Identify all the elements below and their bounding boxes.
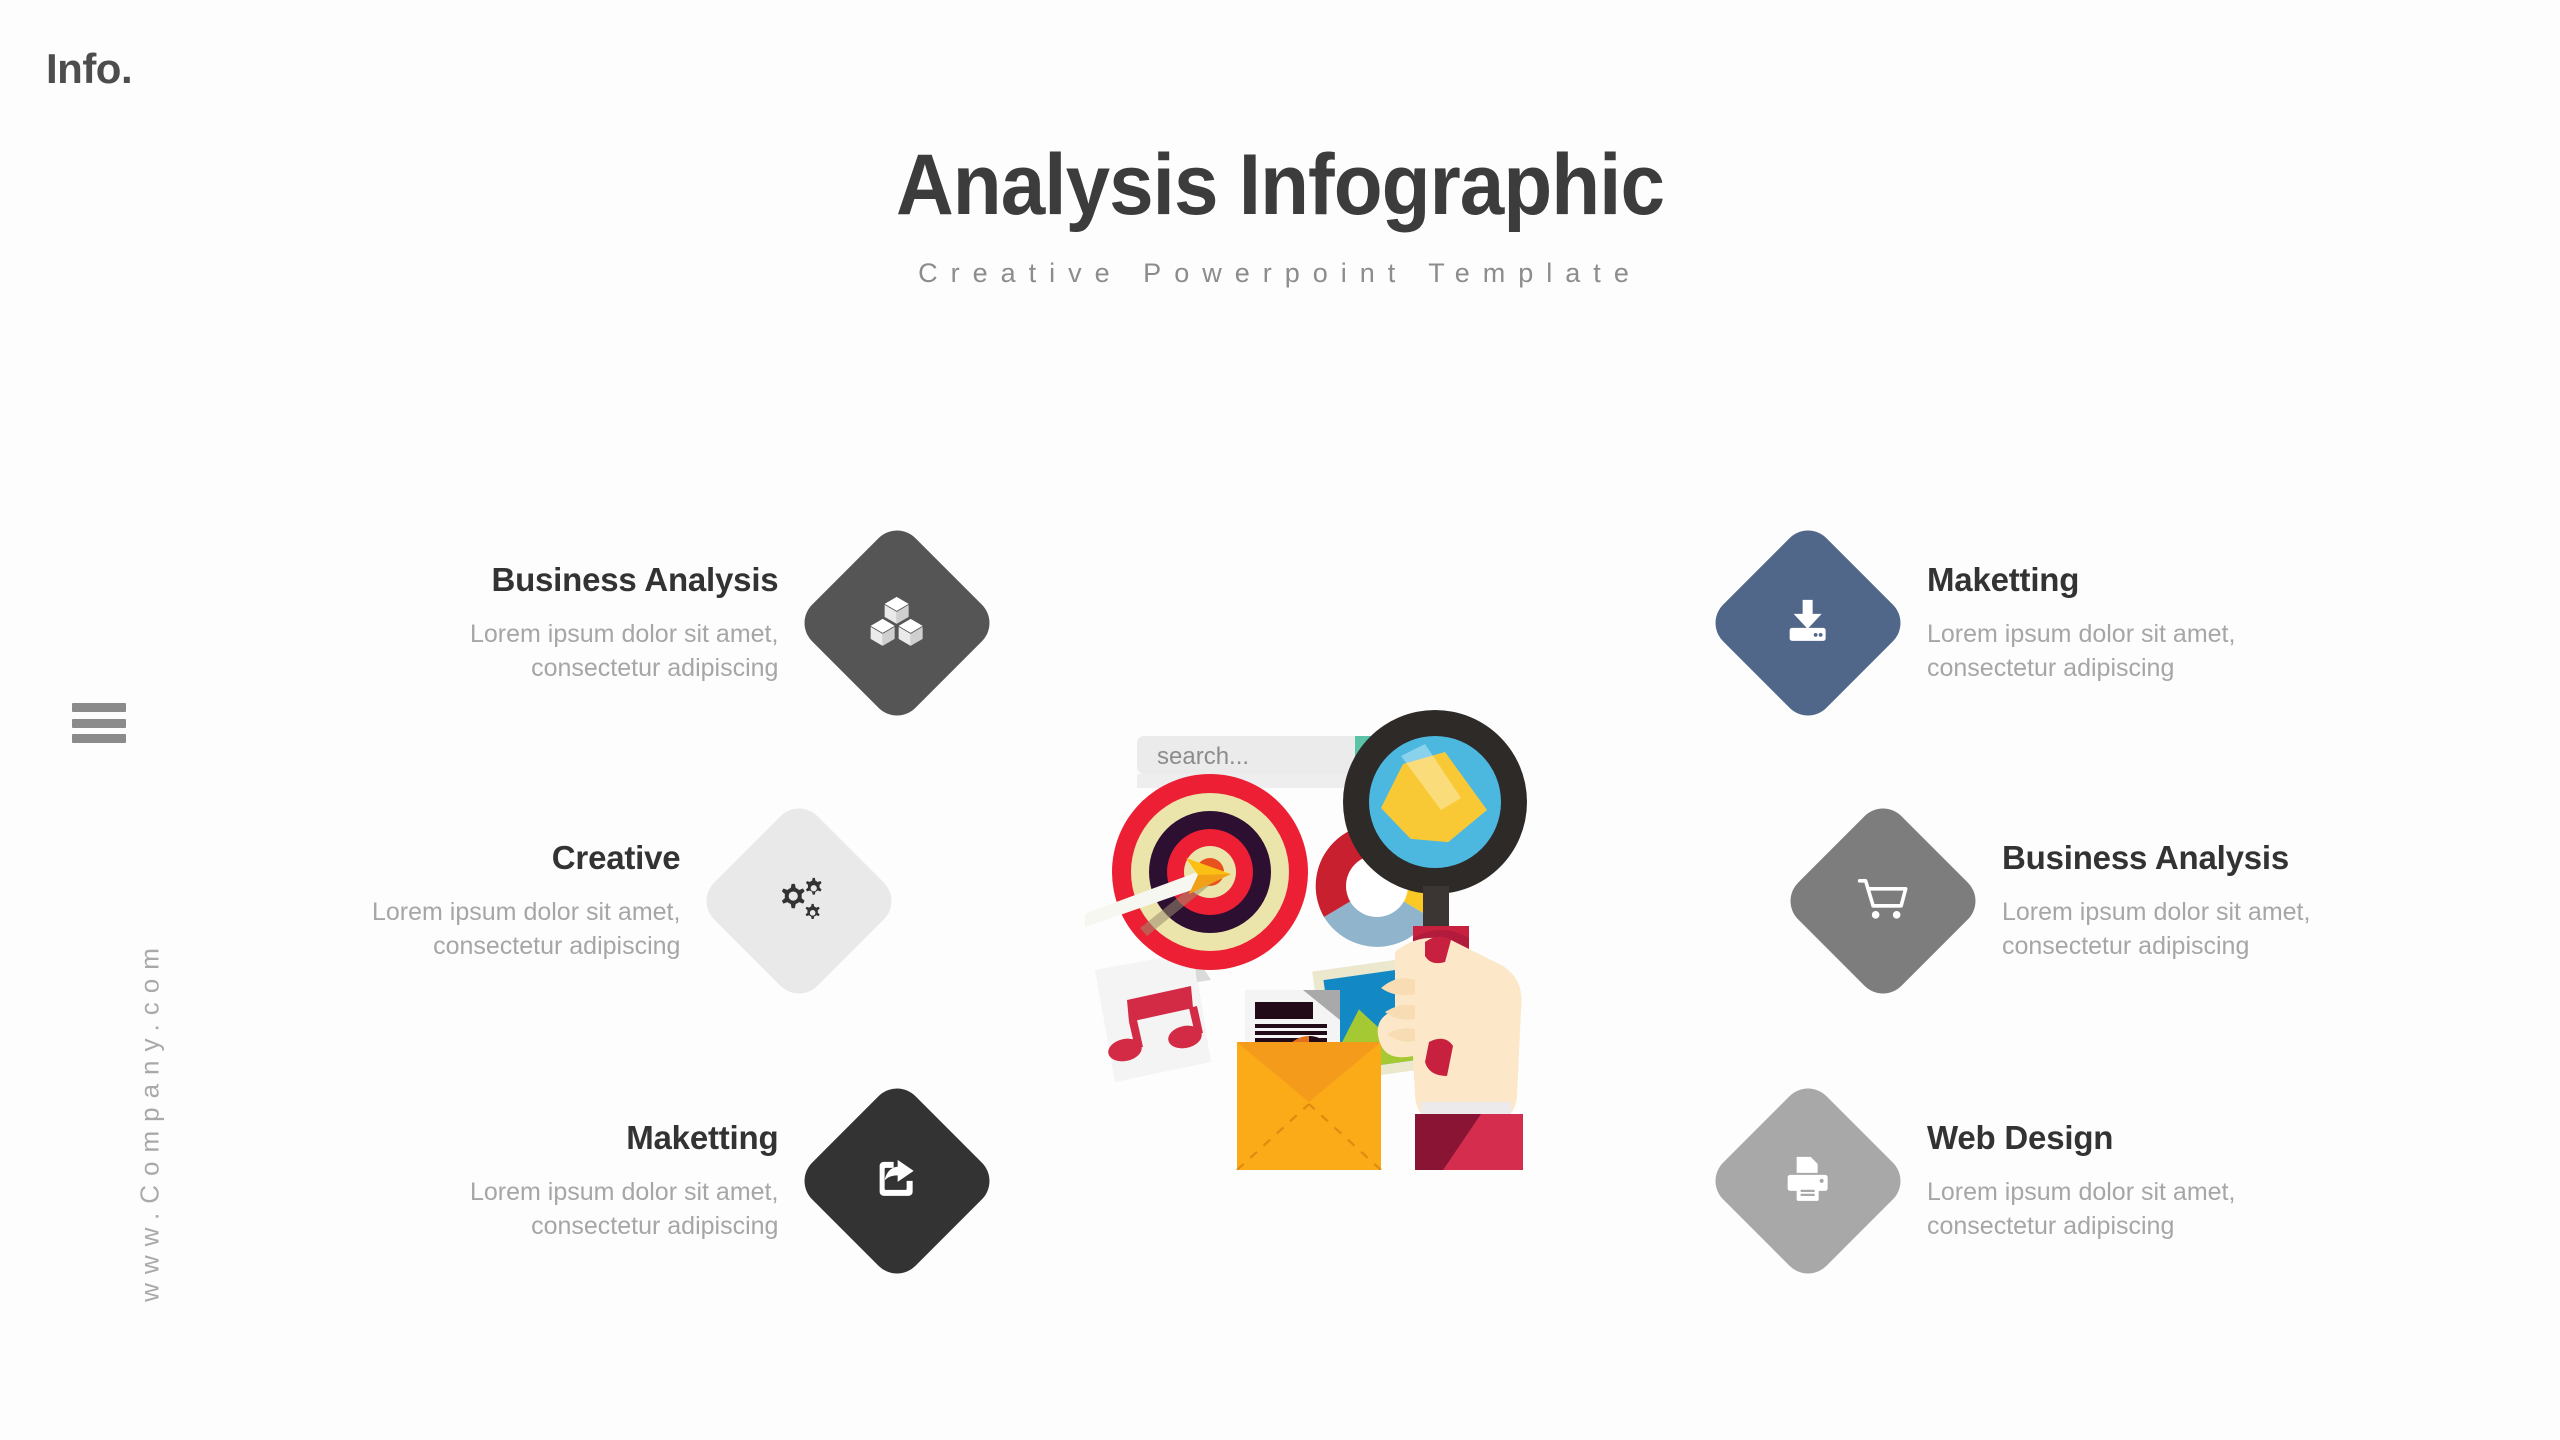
- item-maketting-right[interactable]: Maketting Lorem ipsum dolor sit amet, co…: [1735, 550, 2235, 696]
- item-title: Business Analysis: [491, 561, 778, 599]
- left-rail: www.Company.com: [0, 0, 190, 1440]
- item-web-design[interactable]: Web Design Lorem ipsum dolor sit amet, c…: [1735, 1108, 2235, 1254]
- item-description-line2: consectetur adipiscing: [531, 654, 778, 682]
- envelope: [1237, 1042, 1381, 1170]
- page-header: Analysis Infographic Creative Powerpoint…: [0, 140, 2560, 289]
- item-title: Web Design: [1927, 1119, 2113, 1157]
- item-badge[interactable]: [1705, 1078, 1911, 1284]
- item-description-line2: consectetur adipiscing: [531, 1212, 778, 1240]
- item-description: Lorem ipsum dolor sit amet, consectetur …: [470, 1175, 778, 1244]
- item-text-block: Business Analysis Lorem ipsum dolor sit …: [1956, 839, 2310, 964]
- item-description-line2: consectetur adipiscing: [433, 932, 680, 960]
- item-description: Lorem ipsum dolor sit amet, consectetur …: [1927, 1175, 2235, 1244]
- item-title: Maketting: [626, 1119, 778, 1157]
- download-inbox-icon: [1778, 592, 1838, 655]
- item-badge[interactable]: [1705, 520, 1911, 726]
- cubes-icon: [865, 589, 929, 658]
- item-description-line1: Lorem ipsum dolor sit amet,: [1927, 620, 2235, 648]
- item-text-block: Creative Lorem ipsum dolor sit amet, con…: [372, 839, 726, 964]
- hamburger-bar-2: [72, 719, 126, 728]
- hamburger-bar-3: [72, 734, 126, 743]
- item-description-line1: Lorem ipsum dolor sit amet,: [470, 620, 778, 648]
- item-description-line2: consectetur adipiscing: [1927, 1212, 2174, 1240]
- item-title: Business Analysis: [2002, 839, 2289, 877]
- gears-icon: [768, 868, 830, 935]
- item-creative[interactable]: Creative Lorem ipsum dolor sit amet, con…: [372, 828, 872, 974]
- item-title: Creative: [552, 839, 681, 877]
- hamburger-menu-icon[interactable]: [72, 703, 126, 743]
- item-title: Maketting: [1927, 561, 2079, 599]
- item-description: Lorem ipsum dolor sit amet, consectetur …: [470, 617, 778, 686]
- item-text-block: Maketting Lorem ipsum dolor sit amet, co…: [470, 1119, 824, 1244]
- hamburger-bar-1: [72, 703, 126, 712]
- seo-analysis-illustration: search...: [1085, 690, 1585, 1170]
- item-description-line1: Lorem ipsum dolor sit amet,: [1927, 1178, 2235, 1206]
- page-title: Analysis Infographic: [90, 140, 2471, 230]
- item-description: Lorem ipsum dolor sit amet, consectetur …: [2002, 895, 2310, 964]
- item-description-line2: consectetur adipiscing: [2002, 932, 2249, 960]
- printer-icon: [1779, 1150, 1837, 1213]
- item-description: Lorem ipsum dolor sit amet, consectetur …: [1927, 617, 2235, 686]
- item-description: Lorem ipsum dolor sit amet, consectetur …: [372, 895, 680, 964]
- item-description-line1: Lorem ipsum dolor sit amet,: [372, 898, 680, 926]
- music-note-page: [1095, 952, 1211, 1082]
- item-text-block: Business Analysis Lorem ipsum dolor sit …: [470, 561, 824, 686]
- svg-text:search...: search...: [1157, 743, 1249, 770]
- item-text-block: Maketting Lorem ipsum dolor sit amet, co…: [1881, 561, 2235, 686]
- item-description-line1: Lorem ipsum dolor sit amet,: [470, 1178, 778, 1206]
- page-subtitle: Creative Powerpoint Template: [0, 258, 2560, 289]
- item-business-analysis-right[interactable]: Business Analysis Lorem ipsum dolor sit …: [1810, 828, 2310, 974]
- item-description-line2: consectetur adipiscing: [1927, 654, 2174, 682]
- item-maketting-left[interactable]: Maketting Lorem ipsum dolor sit amet, co…: [470, 1108, 970, 1254]
- item-badge[interactable]: [794, 1078, 1000, 1284]
- item-badge[interactable]: [794, 520, 1000, 726]
- item-description-line1: Lorem ipsum dolor sit amet,: [2002, 898, 2310, 926]
- item-badge[interactable]: [1780, 798, 1986, 1004]
- item-business-analysis-left[interactable]: Business Analysis Lorem ipsum dolor sit …: [470, 550, 970, 696]
- item-text-block: Web Design Lorem ipsum dolor sit amet, c…: [1881, 1119, 2235, 1244]
- item-badge[interactable]: [696, 798, 902, 1004]
- shopping-cart-icon: [1852, 870, 1914, 933]
- dartboard-target: [1085, 774, 1308, 970]
- share-export-icon: [868, 1150, 926, 1213]
- company-url: www.Company.com: [135, 871, 166, 1371]
- hand: [1378, 926, 1523, 1170]
